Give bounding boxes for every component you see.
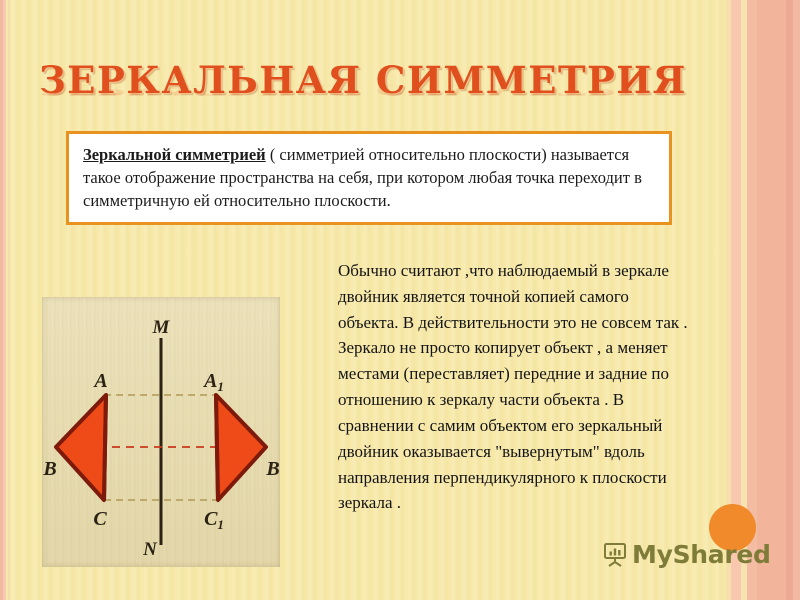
triangle-left <box>56 395 106 500</box>
label-vertex-a1: A1 <box>202 370 224 394</box>
mirror-symmetry-diagram: M N A B C A1 B C1 <box>42 297 280 567</box>
triangle-left-edge-ac <box>104 395 106 500</box>
definition-text: Зеркальной симметрией ( симметрией относ… <box>83 143 657 212</box>
label-mirror-top: M <box>152 317 171 338</box>
slide-canvas: ЗЕРКАЛЬНАЯ СИММЕТРИЯ ЗЕРКАЛЬНАЯ СИММЕТРИ… <box>0 0 800 600</box>
body-paragraph: Обычно считают ,что наблюдаемый в зеркал… <box>338 258 688 516</box>
label-vertex-c1: C1 <box>204 508 224 532</box>
diagram-svg: M N A B C A1 B C1 <box>42 297 280 567</box>
label-vertex-c: C <box>93 508 107 530</box>
label-vertex-a: A <box>92 370 107 392</box>
watermark-label: MyShared <box>632 542 771 567</box>
label-mirror-bottom: N <box>142 539 158 560</box>
triangle-right <box>216 395 266 500</box>
triangle-right-edge-a1c1 <box>216 395 218 500</box>
page-title-reflection: ЗЕРКАЛЬНАЯ СИММЕТРИЯ <box>0 83 726 97</box>
label-vertex-b: B <box>42 458 56 480</box>
label-vertex-b1: B <box>265 458 279 480</box>
presentation-chart-icon <box>602 541 628 567</box>
definition-box: Зеркальной симметрией ( симметрией относ… <box>66 131 672 225</box>
myshared-watermark: MyShared <box>602 541 771 567</box>
title-block: ЗЕРКАЛЬНАЯ СИММЕТРИЯ ЗЕРКАЛЬНАЯ СИММЕТРИ… <box>0 62 726 134</box>
definition-term: Зеркальной симметрией <box>83 145 266 164</box>
